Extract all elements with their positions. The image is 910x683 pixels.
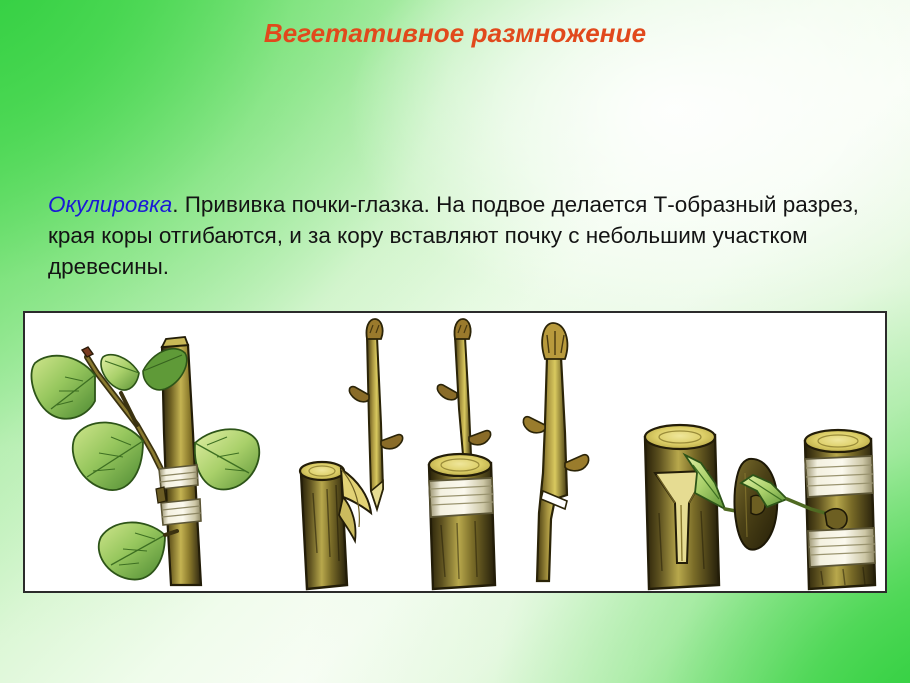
- body-paragraph: Окулировка. Прививка почки-глазка. На по…: [48, 189, 866, 282]
- graft-binding: [429, 478, 493, 517]
- bud: [565, 455, 589, 471]
- bud: [469, 431, 491, 445]
- stage-grafted-stock-wrapped: [429, 319, 495, 589]
- leaf: [73, 422, 143, 490]
- leaf: [99, 522, 165, 579]
- bud: [349, 387, 369, 402]
- stage-scion-shoot: [349, 319, 402, 509]
- budding-process-illustration: [25, 313, 885, 591]
- bud: [523, 417, 545, 433]
- bud: [437, 385, 457, 400]
- stage-grafted-branch-with-leaves: [31, 337, 259, 585]
- stage-rootstock-with-side-cut: [300, 462, 371, 589]
- body-term-separator: .: [172, 192, 185, 217]
- presentation-slide: Вегетативное размножение Окулировка. При…: [0, 0, 910, 683]
- graft-binding: [805, 456, 873, 497]
- leaf: [31, 356, 95, 419]
- graft-binding: [808, 528, 875, 567]
- illustration-frame: [23, 311, 887, 593]
- body-term-okulirovka: Окулировка: [48, 192, 172, 217]
- bud: [381, 435, 403, 449]
- stage-shoot-with-buds: [523, 323, 588, 581]
- stage-stock-with-t-incision: [645, 425, 719, 589]
- leaf: [195, 429, 259, 489]
- page-title: Вегетативное размножение: [0, 18, 910, 49]
